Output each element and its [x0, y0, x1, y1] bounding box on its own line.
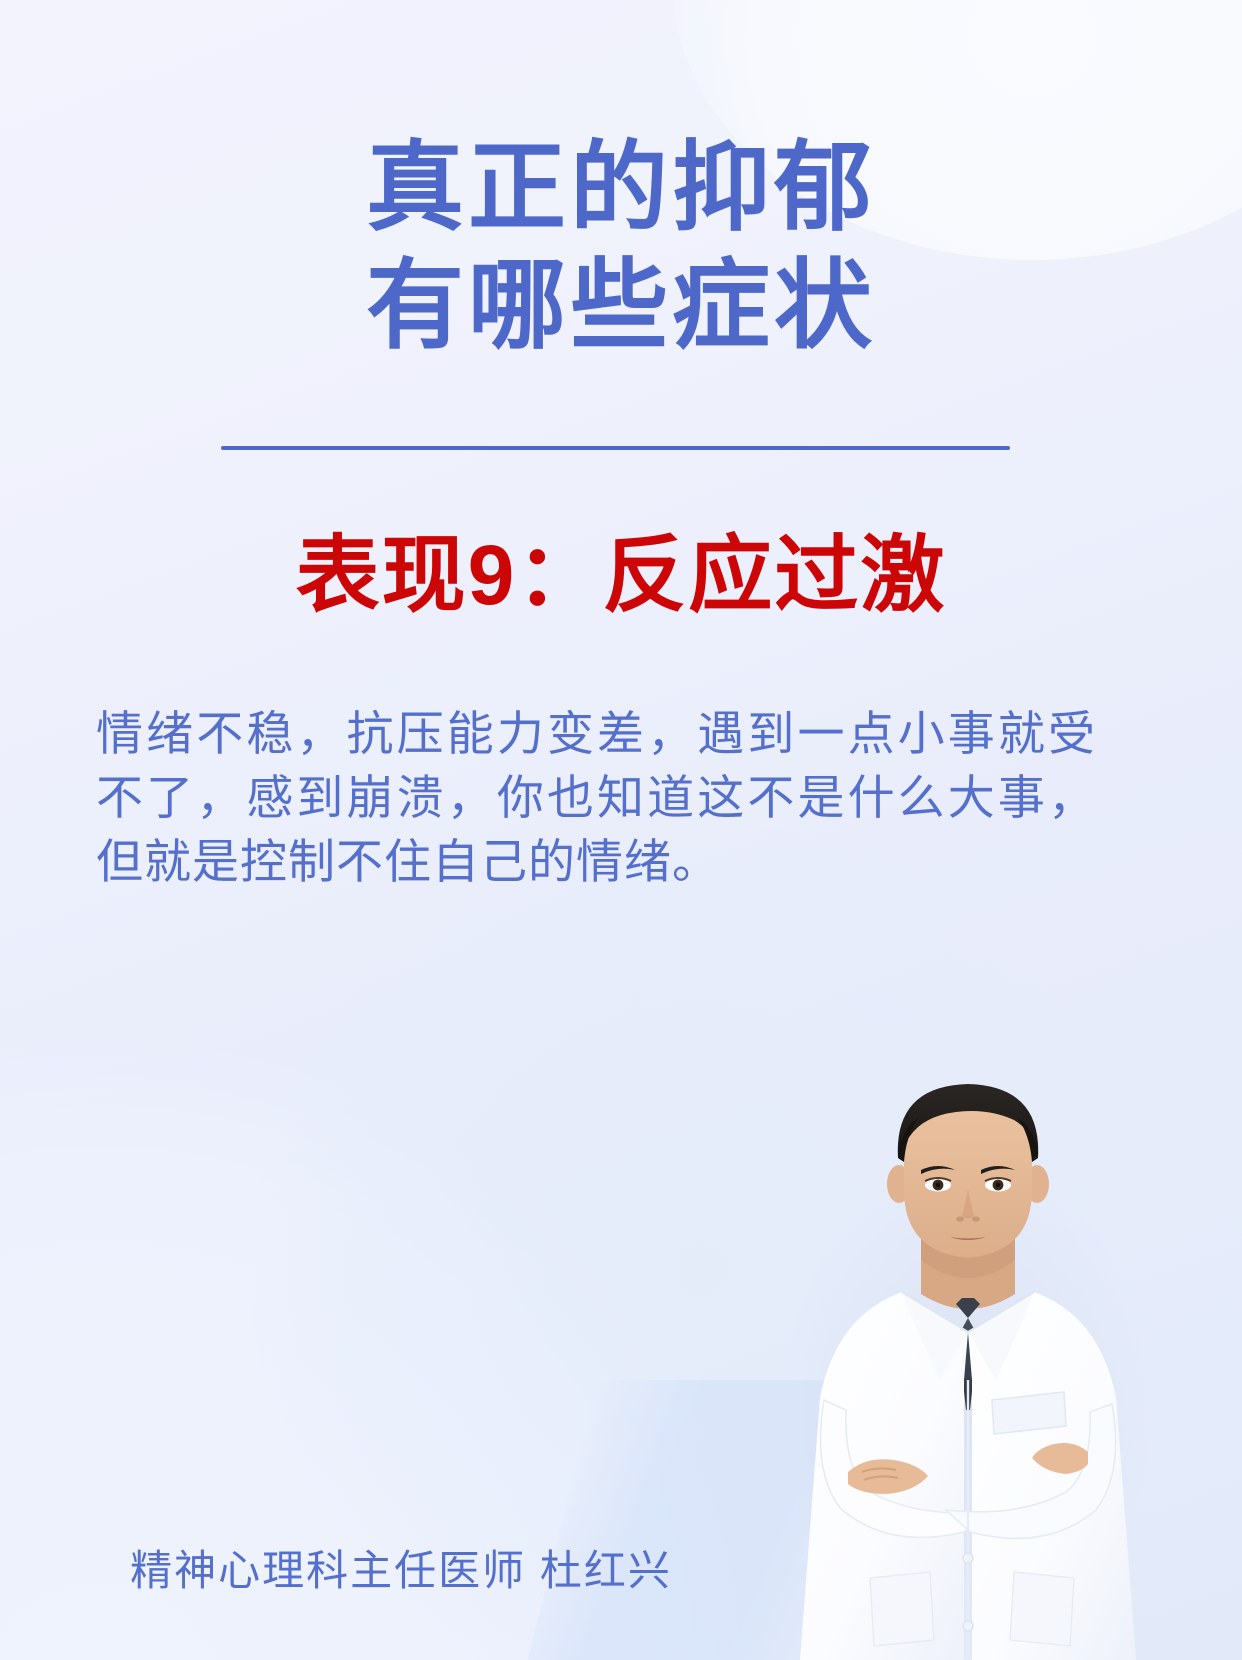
symptom-description: 情绪不稳，抗压能力变差，遇到一点小事就受不了，感到崩溃，你也知道这不是什么大事，… — [96, 702, 1096, 894]
title-line-1: 真正的抑郁 — [0, 128, 1242, 246]
title-line-2: 有哪些症状 — [0, 246, 1242, 364]
title-divider — [221, 446, 1010, 450]
poster-canvas: 真正的抑郁 有哪些症状 表现9：反应过激 情绪不稳，抗压能力变差，遇到一点小事就… — [0, 0, 1242, 1660]
page-title: 真正的抑郁 有哪些症状 — [0, 128, 1242, 364]
doctor-credit: 精神心理科主任医师 杜红兴 — [0, 1537, 1242, 1598]
symptom-headline: 表现9：反应过激 — [0, 525, 1242, 625]
